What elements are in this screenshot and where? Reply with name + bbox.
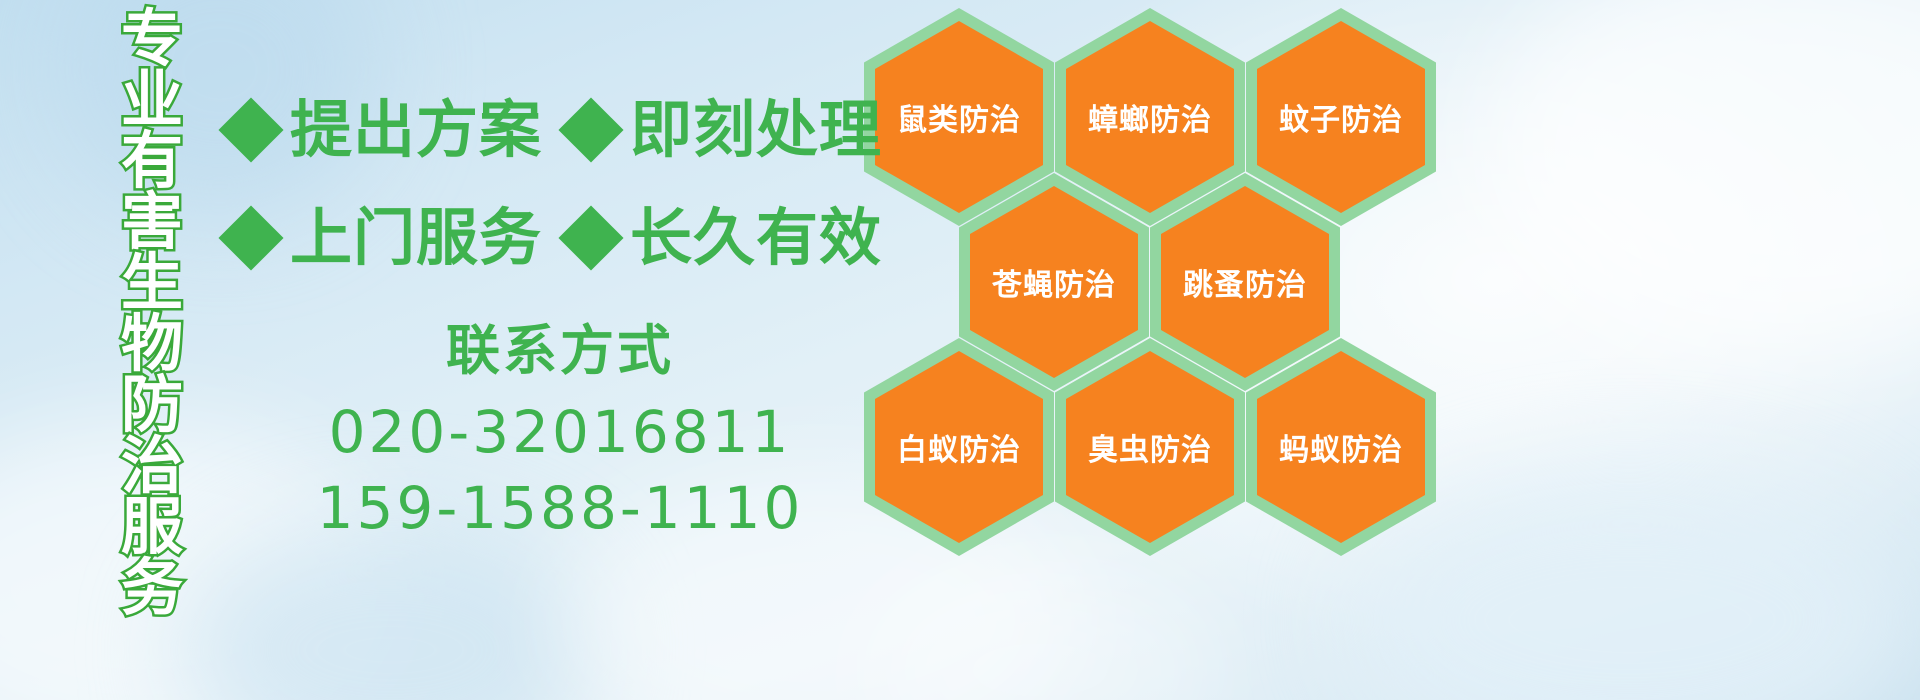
- vertical-title-char: 生: [121, 252, 183, 313]
- feature-row: 提出方案 即刻处理: [228, 76, 888, 184]
- vertical-title-char: 务: [121, 557, 183, 618]
- feature-label: 即刻处理: [630, 99, 882, 161]
- hex-label: 跳蚤防治: [1183, 260, 1307, 304]
- hex-service-bedbug[interactable]: 臭虫防治: [1055, 338, 1245, 556]
- contact-block: 联系方式 020-32016811 159-1588-1110: [300, 320, 820, 546]
- feature-item: 即刻处理: [568, 99, 882, 161]
- hex-label: 臭虫防治: [1088, 425, 1212, 469]
- vertical-title-char: 防: [121, 374, 183, 435]
- feature-label: 上门服务: [290, 207, 542, 269]
- vertical-title-char: 专: [121, 8, 183, 69]
- hex-label: 蟑螂防治: [1088, 95, 1212, 139]
- diamond-icon: [218, 205, 283, 270]
- vertical-title-char: 服: [121, 496, 183, 557]
- diamond-icon: [558, 97, 623, 162]
- background-blob: [180, 520, 600, 700]
- hex-service-ant[interactable]: 蚂蚁防治: [1246, 338, 1436, 556]
- background-blob: [1480, 0, 1920, 360]
- phone-number-landline[interactable]: 020-32016811: [300, 394, 820, 470]
- hex-label: 白蚁防治: [897, 425, 1021, 469]
- vertical-title-char: 物: [121, 313, 183, 374]
- vertical-title-char: 害: [121, 191, 183, 252]
- hex-service-termite[interactable]: 白蚁防治: [864, 338, 1054, 556]
- feature-item: 上门服务: [228, 207, 542, 269]
- service-hexagon-grid: 鼠类防治 蟑螂防治 蚊子防治 苍蝇防治 跳蚤防治 白蚁防治: [858, 0, 1458, 556]
- diamond-icon: [218, 97, 283, 162]
- phone-number-mobile[interactable]: 159-1588-1110: [300, 470, 820, 546]
- diamond-icon: [558, 205, 623, 270]
- vertical-title-char: 有: [121, 130, 183, 191]
- feature-row: 上门服务 长久有效: [228, 184, 888, 292]
- feature-list: 提出方案 即刻处理 上门服务 长久有效: [228, 76, 888, 292]
- vertical-title-char: 业: [121, 69, 183, 130]
- feature-item: 长久有效: [568, 207, 882, 269]
- vertical-title-char: 治: [121, 435, 183, 496]
- promo-banner: 专 业 有 害 生 物 防 治 服 务 提出方案 即刻处理 上门服务: [0, 0, 1920, 700]
- background-blob: [860, 560, 1220, 700]
- contact-title: 联系方式: [300, 320, 820, 382]
- hex-label: 鼠类防治: [897, 95, 1021, 139]
- feature-item: 提出方案: [228, 99, 542, 161]
- hex-label: 蚂蚁防治: [1279, 425, 1403, 469]
- hex-label: 苍蝇防治: [992, 260, 1116, 304]
- feature-label: 长久有效: [630, 207, 882, 269]
- feature-label: 提出方案: [290, 99, 542, 161]
- vertical-title: 专 业 有 害 生 物 防 治 服 务: [104, 8, 200, 568]
- hex-label: 蚊子防治: [1279, 95, 1403, 139]
